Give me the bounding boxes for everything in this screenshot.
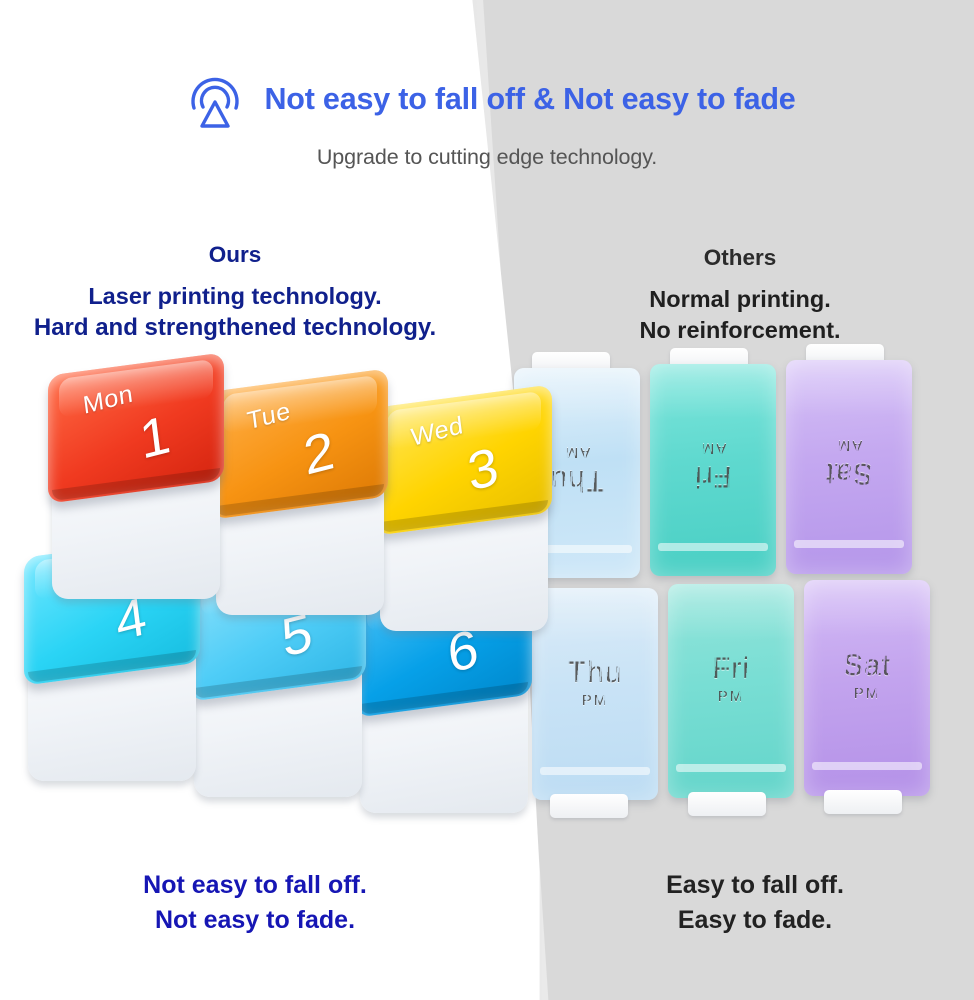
others-cell-label: Fri AM (650, 440, 776, 493)
comparison-infographic: Not easy to fall off & Not easy to fade … (0, 0, 974, 1000)
others-cell-period-label: PM (532, 692, 658, 709)
headline-text: Not easy to fall off & Not easy to fade (264, 82, 795, 117)
others-caption-block: Easy to fall off. Easy to fade. (560, 868, 950, 937)
others-cell-seam (794, 540, 905, 548)
others-cell-body: Sat AM (786, 360, 912, 574)
others-cell-thu-pm: Thu PM (532, 588, 658, 800)
others-cell-period-label: AM (650, 440, 776, 457)
others-cell-label: Thu PM (532, 656, 658, 709)
others-cell-period-label: PM (804, 685, 930, 702)
ours-cell-day-label: Mon (82, 380, 135, 421)
ours-caption-line: Not easy to fall off. (20, 868, 490, 903)
others-cell-seam (658, 543, 769, 551)
others-cell-period-label: AM (786, 437, 912, 454)
ours-cell-lid: Mon 1 (48, 352, 224, 503)
laser-beam-icon (184, 66, 246, 132)
subheadline-text: Upgrade to cutting edge technology. (0, 145, 974, 170)
product-comparison-photo: Mon 1 Tue 2 Wed 3 (0, 350, 974, 870)
others-cell-fri-pm: Fri PM (668, 584, 794, 798)
headline-row: Not easy to fall off & Not easy to fade (0, 66, 974, 132)
others-cell-sat-am: Sat AM (786, 360, 912, 574)
others-cell-tab (550, 794, 628, 818)
ours-title: Ours (0, 240, 470, 270)
others-cell-day-label: Sat (804, 649, 930, 683)
ours-cell-lid: Wed 3 (376, 384, 552, 535)
others-cell-day-label: Thu (532, 656, 658, 690)
others-cell-label: Fri PM (668, 652, 794, 705)
others-cell-day-label: Sat (786, 456, 912, 490)
ours-heading-block: Ours Laser printing technology. Hard and… (0, 240, 470, 343)
ours-cell-day-label: Tue (246, 397, 293, 436)
others-pill-organizer: Thu AM Fri AM (500, 350, 974, 870)
others-cell-body: Thu PM (532, 588, 658, 800)
others-cell-seam (540, 767, 651, 775)
ours-cell-lid: Tue 2 (212, 368, 388, 519)
header: Not easy to fall off & Not easy to fade … (0, 66, 974, 170)
others-heading-block: Others Normal printing. No reinforcement… (540, 243, 940, 346)
others-cell-label: Sat AM (786, 437, 912, 490)
others-cell-sat-pm: Sat PM (804, 580, 930, 796)
others-cell-fri-am: Fri AM (650, 364, 776, 576)
ours-caption-block: Not easy to fall off. Not easy to fade. (20, 868, 490, 937)
others-cell-body: Sat PM (804, 580, 930, 796)
ours-cell-number-label: 3 (464, 439, 500, 499)
others-title: Others (540, 243, 940, 273)
others-cell-seam (812, 762, 923, 770)
others-caption-line: Easy to fade. (560, 903, 950, 938)
others-description-line: No reinforcement. (540, 315, 940, 346)
ours-cell-number-label: 1 (136, 407, 172, 467)
ours-caption-line: Not easy to fade. (20, 903, 490, 938)
ours-cell-number-label: 2 (300, 423, 336, 483)
others-cell-seam (676, 764, 787, 772)
others-cell-body: Fri AM (650, 364, 776, 576)
others-cell-period-label: PM (668, 688, 794, 705)
others-description-line: Normal printing. (540, 284, 940, 315)
others-cell-day-label: Fri (650, 459, 776, 493)
others-cell-tab (688, 792, 766, 816)
others-caption-line: Easy to fall off. (560, 868, 950, 903)
others-cell-body: Fri PM (668, 584, 794, 798)
others-cell-day-label: Fri (668, 652, 794, 686)
others-description: Normal printing. No reinforcement. (540, 284, 940, 346)
others-cell-label: Sat PM (804, 649, 930, 702)
others-cell-tab (824, 790, 902, 814)
ours-description: Laser printing technology. Hard and stre… (0, 281, 470, 344)
ours-description-line: Hard and strengthened technology. (0, 312, 470, 344)
ours-description-line: Laser printing technology. (0, 281, 470, 312)
ours-cell-day-label: Wed (410, 411, 466, 453)
ours-pill-organizer: Mon 1 Tue 2 Wed 3 (0, 350, 540, 870)
